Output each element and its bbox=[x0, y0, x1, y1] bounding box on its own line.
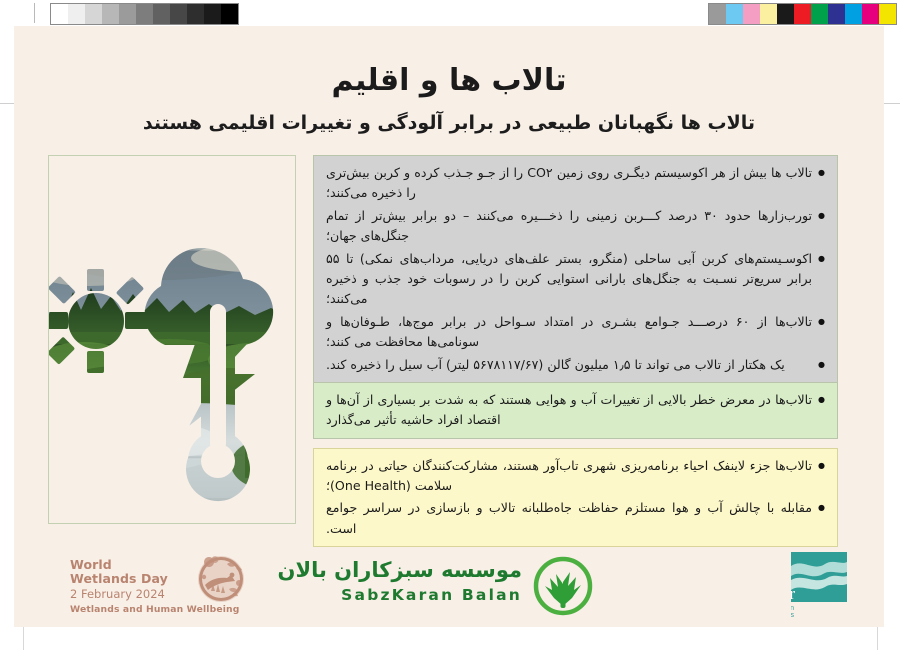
poster-page: تالاب ها و اقلیم تالاب ها نگهبانان طبیعی… bbox=[14, 26, 884, 627]
color-calibration-strip bbox=[0, 0, 900, 26]
list-item: تالاب‌ها جزء لاینفک احیاء برنامه‌ریزی شه… bbox=[326, 456, 825, 497]
grayscale-swatch-4 bbox=[153, 4, 170, 24]
illustration-svg bbox=[49, 156, 295, 523]
color-swatch-2 bbox=[845, 4, 862, 24]
list-item: مقابله با چالش آب و هوا مستلزم حفاظت جاه… bbox=[326, 498, 825, 539]
yellow-bullet-list: تالاب‌ها جزء لاینفک احیاء برنامه‌ریزی شه… bbox=[326, 456, 825, 540]
world-wetlands-day-logo: World Wetlands Day 2 February 2024 Wetla… bbox=[70, 555, 270, 617]
gray-facts-box: تالاب ها بیش از هر اکوسیستم دیگـری روی ز… bbox=[313, 155, 838, 383]
calibration-tick-left bbox=[34, 3, 35, 23]
green-bullet-list: تالاب‌ها در معرض خطر بالایی از تغییرات آ… bbox=[326, 390, 825, 431]
list-item: تالاب‌ها از ۶۰ درصـــد جـوامع بشـری در ا… bbox=[326, 312, 825, 353]
organization-name-fa: موسسه سبزکاران بالان bbox=[278, 558, 522, 582]
grayscale-swatch-5 bbox=[136, 4, 153, 24]
page-rule-right bbox=[884, 103, 900, 104]
color-swatch-8 bbox=[743, 4, 760, 24]
wwd-text-block: World Wetlands Day 2 February 2024 bbox=[70, 558, 188, 602]
list-item: تالاب‌ها در معرض خطر بالایی از تغییرات آ… bbox=[326, 390, 825, 431]
list-item: تالاب ها بیش از هر اکوسیستم دیگـری روی ز… bbox=[326, 163, 825, 204]
ramsar-subtitle-line2: on Wetlands bbox=[791, 612, 794, 618]
green-risk-box: تالاب‌ها در معرض خطر بالایی از تغییرات آ… bbox=[313, 383, 838, 439]
grayscale-calibration-swatches bbox=[50, 3, 239, 25]
color-swatch-0 bbox=[879, 4, 896, 24]
wwd-line-2: Wetlands Day bbox=[70, 572, 188, 586]
page-subtitle: تالاب ها نگهبانان طبیعی در برابر آلودگی … bbox=[14, 112, 884, 134]
list-item: تورب‌زارها حدود ۳۰ درصد کـــربن زمینی را… bbox=[326, 206, 825, 247]
list-item: اکوسـیستم‌های کربن آبی ساحلی (منگرو، بست… bbox=[326, 249, 825, 310]
ramsar-subtitle-line1: Convention bbox=[791, 605, 794, 612]
color-swatch-4 bbox=[811, 4, 828, 24]
grayscale-swatch-2 bbox=[187, 4, 204, 24]
grayscale-swatch-6 bbox=[119, 4, 136, 24]
grayscale-swatch-9 bbox=[68, 4, 85, 24]
color-swatch-5 bbox=[794, 4, 811, 24]
list-item: یک هکتار از تالاب می تواند تا ۱٫۵ میلیون… bbox=[326, 355, 825, 375]
organization-logo: موسسه سبزکاران بالان SabzKaran Balan bbox=[344, 556, 594, 616]
color-swatch-7 bbox=[760, 4, 777, 24]
text-column: تالاب ها بیش از هر اکوسیستم دیگـری روی ز… bbox=[313, 155, 838, 547]
page-title: تالاب ها و اقلیم bbox=[14, 63, 884, 98]
grayscale-swatch-7 bbox=[102, 4, 119, 24]
wetland-climate-illustration bbox=[48, 155, 296, 524]
color-calibration-swatches bbox=[708, 3, 897, 25]
wwd-date: 2 February 2024 bbox=[70, 588, 188, 602]
wwd-line-1: World bbox=[70, 558, 188, 572]
grayscale-swatch-8 bbox=[85, 4, 102, 24]
color-swatch-3 bbox=[828, 4, 845, 24]
plant-circle-icon bbox=[532, 556, 594, 620]
footer: World Wetlands Day 2 February 2024 Wetla… bbox=[48, 543, 884, 627]
color-swatch-10 bbox=[709, 4, 726, 24]
gray-bullet-list: تالاب ها بیش از هر اکوسیستم دیگـری روی ز… bbox=[326, 163, 825, 375]
grayscale-swatch-3 bbox=[170, 4, 187, 24]
grayscale-swatch-0 bbox=[221, 4, 238, 24]
ramsar-wordmark: Ramsar bbox=[791, 584, 795, 603]
color-swatch-9 bbox=[726, 4, 743, 24]
organization-name-en: SabzKaran Balan bbox=[341, 586, 522, 604]
yellow-action-box: تالاب‌ها جزء لاینفک احیاء برنامه‌ریزی شه… bbox=[313, 448, 838, 548]
ramsar-logo: Ramsar Convention on Wetlands bbox=[791, 552, 847, 618]
color-swatch-6 bbox=[777, 4, 794, 24]
content-area: تالاب ها بیش از هر اکوسیستم دیگـری روی ز… bbox=[48, 155, 852, 399]
color-swatch-1 bbox=[862, 4, 879, 24]
grayscale-swatch-10 bbox=[51, 4, 68, 24]
wwd-circular-emblem-icon bbox=[191, 555, 251, 607]
grayscale-swatch-1 bbox=[204, 4, 221, 24]
